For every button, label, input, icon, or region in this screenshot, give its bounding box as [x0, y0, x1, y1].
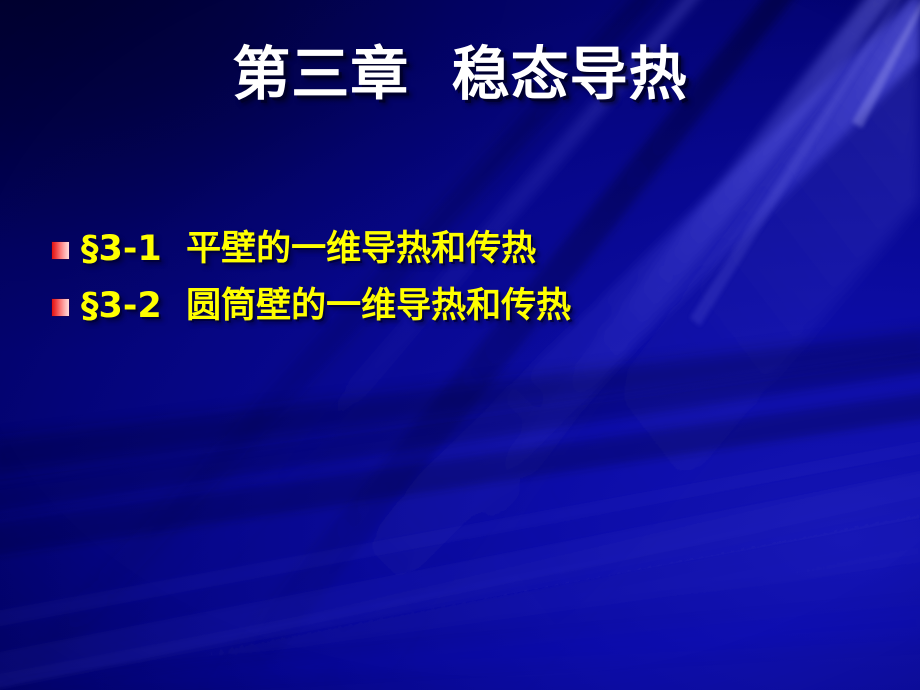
slide-content: 第三章 稳态导热 §3-1 平壁的一维导热和传热 §3-2 圆筒壁的一维导热和传… — [0, 0, 920, 690]
outline-list: §3-1 平壁的一维导热和传热 §3-2 圆筒壁的一维导热和传热 — [52, 228, 880, 341]
list-item[interactable]: §3-1 平壁的一维导热和传热 — [52, 228, 880, 271]
page-title: 第三章 稳态导热 — [0, 42, 920, 107]
square-bullet-icon — [52, 242, 69, 259]
list-item-label: §3-2 圆筒壁的一维导热和传热 — [81, 285, 571, 328]
square-bullet-icon — [52, 299, 69, 316]
presentation-slide: 第三章 稳态导热 §3-1 平壁的一维导热和传热 §3-2 圆筒壁的一维导热和传… — [0, 0, 920, 690]
list-item-label: §3-1 平壁的一维导热和传热 — [81, 228, 536, 271]
list-item[interactable]: §3-2 圆筒壁的一维导热和传热 — [52, 285, 880, 328]
